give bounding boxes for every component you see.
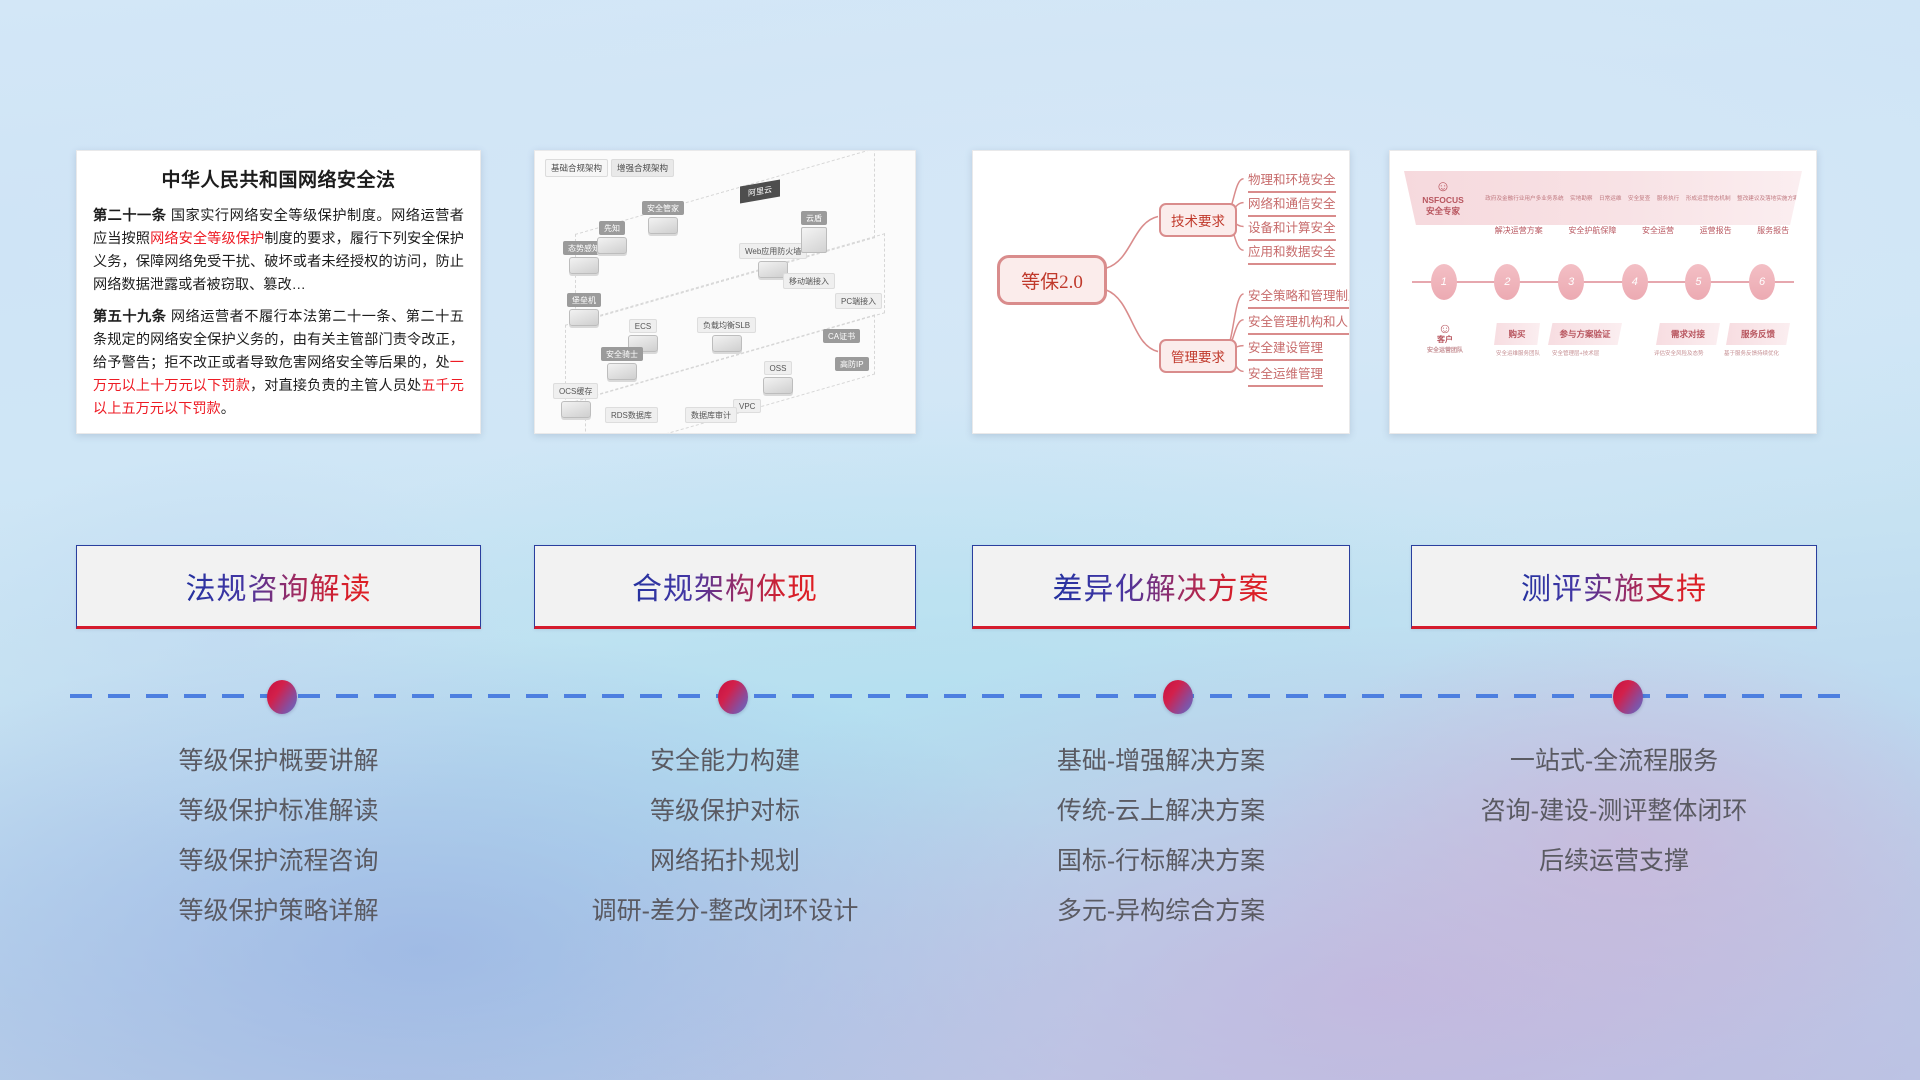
tab-enhanced-compliance[interactable]: 增强合规架构 [611, 159, 674, 177]
mindmap-branch-technical: 技术要求 [1159, 203, 1237, 237]
node-bastion-host: 堡垒机 [567, 293, 601, 326]
architecture-tabs: 基础合规架构 增强合规架构 [545, 159, 674, 177]
bottom-note: 安全管理层+技术层 [1552, 349, 1599, 357]
node-label: 堡垒机 [567, 293, 601, 307]
timeline-dashed-line [70, 694, 1850, 698]
architecture-diagram: 基础合规架构 增强合规架构 阿里云 态势感知 先知 安全管家 [535, 151, 915, 433]
node-label: 移动端接入 [783, 273, 835, 289]
person-icon: ☺ [1404, 321, 1486, 335]
article-59-text-b: ，对直接负责的主管人员处 [250, 378, 421, 394]
node-slb: 负载均衡SLB [697, 317, 756, 352]
banner-note: 日常运维 [1599, 194, 1621, 202]
list-item: 等级保护对标 [534, 790, 916, 840]
mindmap: 等保2.0 技术要求 管理要求 物理和环境安全 网络和通信安全 设备和计算安全 … [973, 151, 1349, 433]
timeline-marker-4 [1613, 680, 1643, 714]
list-item: 多元-异构综合方案 [972, 890, 1350, 940]
node-oss: OSS [763, 361, 793, 394]
node-label: OSS [764, 361, 793, 375]
banner-note: 服务执行 [1657, 194, 1679, 202]
card-mindmap-dengbao: 等保2.0 技术要求 管理要求 物理和环境安全 网络和通信安全 设备和计算安全 … [972, 150, 1350, 434]
banner-notes: 政府及金融行业用户多业务系统 实地勘察 日常运维 安全复查 服务执行 形成运营常… [1482, 194, 1802, 202]
article-21-highlight: 网络安全等级保护 [150, 231, 264, 247]
node-label: OCS缓存 [553, 383, 598, 399]
timeline-sub-items: 解决运营方案 安全护航保障 安全运营 运营报告 服务报告 [1482, 225, 1802, 236]
chip-service-feedback: 服务反馈 [1726, 323, 1790, 345]
list-item: 一站式-全流程服务 [1411, 740, 1817, 790]
list-item: 等级保护概要讲解 [76, 740, 481, 790]
node-label: ECS [629, 319, 657, 333]
mindmap-leaf-app-data: 应用和数据安全 [1248, 241, 1336, 265]
node-ocs-cache: OCS缓存 [553, 383, 598, 418]
node-label: VPC [733, 399, 761, 413]
section-title-box-1[interactable]: 法规咨询解读 [76, 545, 481, 629]
chip-requirement-docking: 需求对接 [1656, 323, 1720, 345]
banner-note: 形成运营常态机制 [1686, 194, 1731, 202]
customer-label: 客户 [1437, 335, 1453, 344]
banner-note: 实地勘察 [1570, 194, 1592, 202]
list-item: 网络拓扑规划 [534, 840, 916, 890]
node-security-butler: 安全管家 [642, 201, 684, 234]
law-article-59: 第五十九条 网络运营者不履行本法第二十一条、第二十五条规定的网络安全保护义务的，… [93, 306, 464, 421]
section-title-label: 合规架构体现 [632, 564, 818, 608]
section-items-4: 一站式-全流程服务 咨询-建设-测评整体闭环 后续运营支撑 [1411, 740, 1817, 890]
law-text-block: 中华人民共和国网络安全法 第二十一条 国家实行网络安全等级保护制度。网络运营者应… [77, 151, 480, 421]
node-glyph [607, 363, 637, 380]
node-security-knight: 安全骑士 [601, 347, 643, 380]
tab-basic-compliance[interactable]: 基础合规架构 [545, 159, 608, 177]
mindmap-root-node: 等保2.0 [997, 255, 1107, 305]
node-mobile-access: 移动端接入 [783, 273, 835, 291]
node-glyph [569, 257, 599, 274]
chip-participate-validation: 参与方案验证 [1548, 323, 1622, 345]
step-node: 1 [1431, 264, 1457, 300]
sub-item: 运营报告 [1700, 225, 1732, 236]
bottom-note: 基于服务反馈持续优化 [1724, 349, 1779, 357]
card-cybersecurity-law: 中华人民共和国网络安全法 第二十一条 国家实行网络安全等级保护制度。网络运营者应… [76, 150, 481, 434]
node-label: PC端接入 [835, 293, 882, 309]
list-item: 安全能力构建 [534, 740, 916, 790]
step-node: 4 [1622, 264, 1648, 300]
bottom-note: 安全运维服务团队 [1496, 349, 1540, 357]
card-cloud-architecture: 基础合规架构 增强合规架构 阿里云 态势感知 先知 安全管家 [534, 150, 916, 434]
mindmap-leaf-physical-env: 物理和环境安全 [1248, 169, 1336, 193]
mindmap-leaf-network-comm: 网络和通信安全 [1248, 193, 1336, 217]
banner-note: 安全复查 [1628, 194, 1650, 202]
node-glyph [648, 217, 678, 234]
step-node: 6 [1749, 264, 1775, 300]
section-title-row: 法规咨询解读 合规架构体现 差异化解决方案 测评实施支持 [0, 545, 1920, 635]
timeline-connector [70, 694, 1850, 698]
node-glyph [712, 335, 742, 352]
expert-badge: ☺ NSFOCUS 安全专家 [1404, 179, 1482, 216]
node-pc-access: PC端接入 [835, 293, 882, 311]
reference-image-cards: 中华人民共和国网络安全法 第二十一条 国家实行网络安全等级保护制度。网络运营者应… [0, 150, 1920, 440]
sub-item: 安全护航保障 [1568, 225, 1616, 236]
banner-note: 整改建议及落地实施方案 [1737, 194, 1799, 202]
node-label: CA证书 [823, 329, 860, 343]
node-label: Web应用防火墙 [739, 243, 807, 259]
banner-note: 政府及金融行业用户多业务系统 [1485, 194, 1563, 202]
node-glyph [569, 309, 599, 326]
timeline-banner: ☺ NSFOCUS 安全专家 政府及金融行业用户多业务系统 实地勘察 日常运维 … [1404, 171, 1802, 225]
step-node: 2 [1494, 264, 1520, 300]
article-59-label: 第五十九条 [93, 309, 166, 325]
node-label: 数据库审计 [685, 407, 737, 423]
bottom-note: 评估安全风险及态势 [1654, 349, 1704, 357]
sub-item: 服务报告 [1757, 225, 1789, 236]
timeline-step-nodes: 1 2 3 4 5 6 [1412, 264, 1794, 300]
mindmap-leaf-ops-mgmt: 安全运维管理 [1248, 363, 1323, 387]
node-label: 云盾 [801, 211, 827, 225]
node-xianzhi: 先知 [597, 221, 627, 254]
section-items-2: 安全能力构建 等级保护对标 网络拓扑规划 调研-差分-整改闭环设计 [534, 740, 916, 940]
node-glyph [763, 377, 793, 394]
mindmap-leaf-policy-system: 安全策略和管理制度 [1248, 285, 1350, 309]
article-21-label: 第二十一条 [93, 208, 166, 224]
node-label: 负载均衡SLB [697, 317, 756, 333]
node-db-audit: 数据库审计 [685, 407, 737, 425]
node-glyph [801, 227, 827, 253]
node-anti-ddos-ip: 高防IP [835, 357, 869, 373]
node-label: 安全骑士 [601, 347, 643, 361]
list-item: 等级保护标准解读 [76, 790, 481, 840]
node-label: 高防IP [835, 357, 869, 371]
list-item: 等级保护流程咨询 [76, 840, 481, 890]
node-vpc: VPC [733, 399, 761, 415]
section-items-1: 等级保护概要讲解 等级保护标准解读 等级保护流程咨询 等级保护策略详解 [76, 740, 481, 940]
step-node: 3 [1558, 264, 1584, 300]
section-items-3: 基础-增强解决方案 传统-云上解决方案 国标-行标解决方案 多元-异构综合方案 [972, 740, 1350, 940]
timeline-marker-3 [1163, 680, 1193, 714]
list-item: 后续运营支撑 [1411, 840, 1817, 890]
mindmap-branch-management: 管理要求 [1159, 339, 1237, 373]
section-title-label: 差异化解决方案 [1053, 564, 1270, 608]
mindmap-leaf-device-compute: 设备和计算安全 [1248, 217, 1336, 241]
list-item: 基础-增强解决方案 [972, 740, 1350, 790]
expert-brand: NSFOCUS [1422, 195, 1464, 205]
customer-sub: 安全运营团队 [1427, 348, 1463, 354]
node-ca-certificate: CA证书 [823, 329, 860, 345]
node-cloud-shield: 云盾 [801, 211, 827, 253]
sub-item: 安全运营 [1642, 225, 1674, 236]
node-glyph [561, 401, 591, 418]
card-service-timeline: ☺ NSFOCUS 安全专家 政府及金融行业用户多业务系统 实地勘察 日常运维 … [1389, 150, 1817, 434]
step-node: 5 [1685, 264, 1711, 300]
timeline-marker-1 [267, 680, 297, 714]
node-label: RDS数据库 [605, 407, 658, 423]
customer-badge: ☺ 客户 安全运营团队 [1404, 321, 1486, 356]
person-star-icon: ☺ [1404, 179, 1482, 194]
mindmap-leaf-construction-mgmt: 安全建设管理 [1248, 337, 1323, 361]
law-article-21: 第二十一条 国家实行网络安全等级保护制度。网络运营者应当按照网络安全等级保护制度… [93, 205, 464, 297]
section-title-box-3[interactable]: 差异化解决方案 [972, 545, 1350, 629]
section-title-label: 测评实施支持 [1521, 564, 1707, 608]
timeline-marker-2 [718, 680, 748, 714]
section-title-box-4[interactable]: 测评实施支持 [1411, 545, 1817, 629]
node-label: 安全管家 [642, 201, 684, 215]
node-glyph [597, 237, 627, 254]
article-59-text-c: 。 [221, 401, 235, 417]
list-item: 国标-行标解决方案 [972, 840, 1350, 890]
node-label: 先知 [599, 221, 625, 235]
list-item: 等级保护策略详解 [76, 890, 481, 940]
node-rds-database: RDS数据库 [605, 407, 658, 425]
list-item: 传统-云上解决方案 [972, 790, 1350, 840]
section-title-label: 法规咨询解读 [186, 564, 372, 608]
service-timeline: ☺ NSFOCUS 安全专家 政府及金融行业用户多业务系统 实地勘察 日常运维 … [1390, 151, 1816, 433]
law-title: 中华人民共和国网络安全法 [93, 165, 464, 192]
mindmap-leaf-org-personnel: 安全管理机构和人员 [1248, 311, 1350, 335]
expert-role: 安全专家 [1426, 206, 1460, 216]
chip-purchase: 购买 [1494, 323, 1540, 345]
list-item: 咨询-建设-测评整体闭环 [1411, 790, 1817, 840]
list-item: 调研-差分-整改闭环设计 [534, 890, 916, 940]
slide-canvas: 中华人民共和国网络安全法 第二十一条 国家实行网络安全等级保护制度。网络运营者应… [0, 0, 1920, 1080]
sub-item: 解决运营方案 [1495, 225, 1543, 236]
section-title-box-2[interactable]: 合规架构体现 [534, 545, 916, 629]
